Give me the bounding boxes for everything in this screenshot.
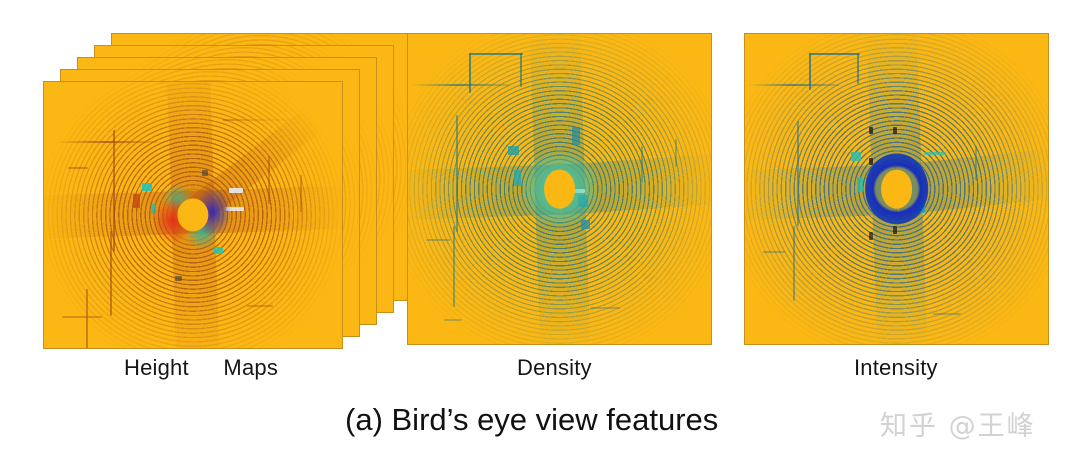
density-label: Density bbox=[517, 355, 592, 381]
zhihu-watermark: 知乎 @王峰 bbox=[880, 404, 1036, 443]
height-maps-stack bbox=[43, 33, 368, 350]
sensor-blind-spot bbox=[544, 170, 576, 209]
density-bev-image bbox=[408, 34, 711, 344]
bev-feature-figure: Height Maps bbox=[0, 0, 1080, 463]
intensity-bev-image bbox=[745, 34, 1048, 344]
height-maps-label-part1: Height bbox=[124, 355, 189, 380]
height-maps-label: Height Maps bbox=[124, 355, 278, 381]
height-map-layer-1 bbox=[43, 81, 343, 349]
height-bev-image bbox=[44, 82, 342, 348]
intensity-panel bbox=[744, 33, 1049, 345]
density-panel bbox=[407, 33, 712, 345]
sensor-blind-spot bbox=[881, 170, 913, 209]
intensity-label: Intensity bbox=[854, 355, 938, 381]
figure-caption: (a) Bird’s eye view features bbox=[345, 402, 718, 438]
height-maps-label-part2: Maps bbox=[223, 355, 278, 380]
